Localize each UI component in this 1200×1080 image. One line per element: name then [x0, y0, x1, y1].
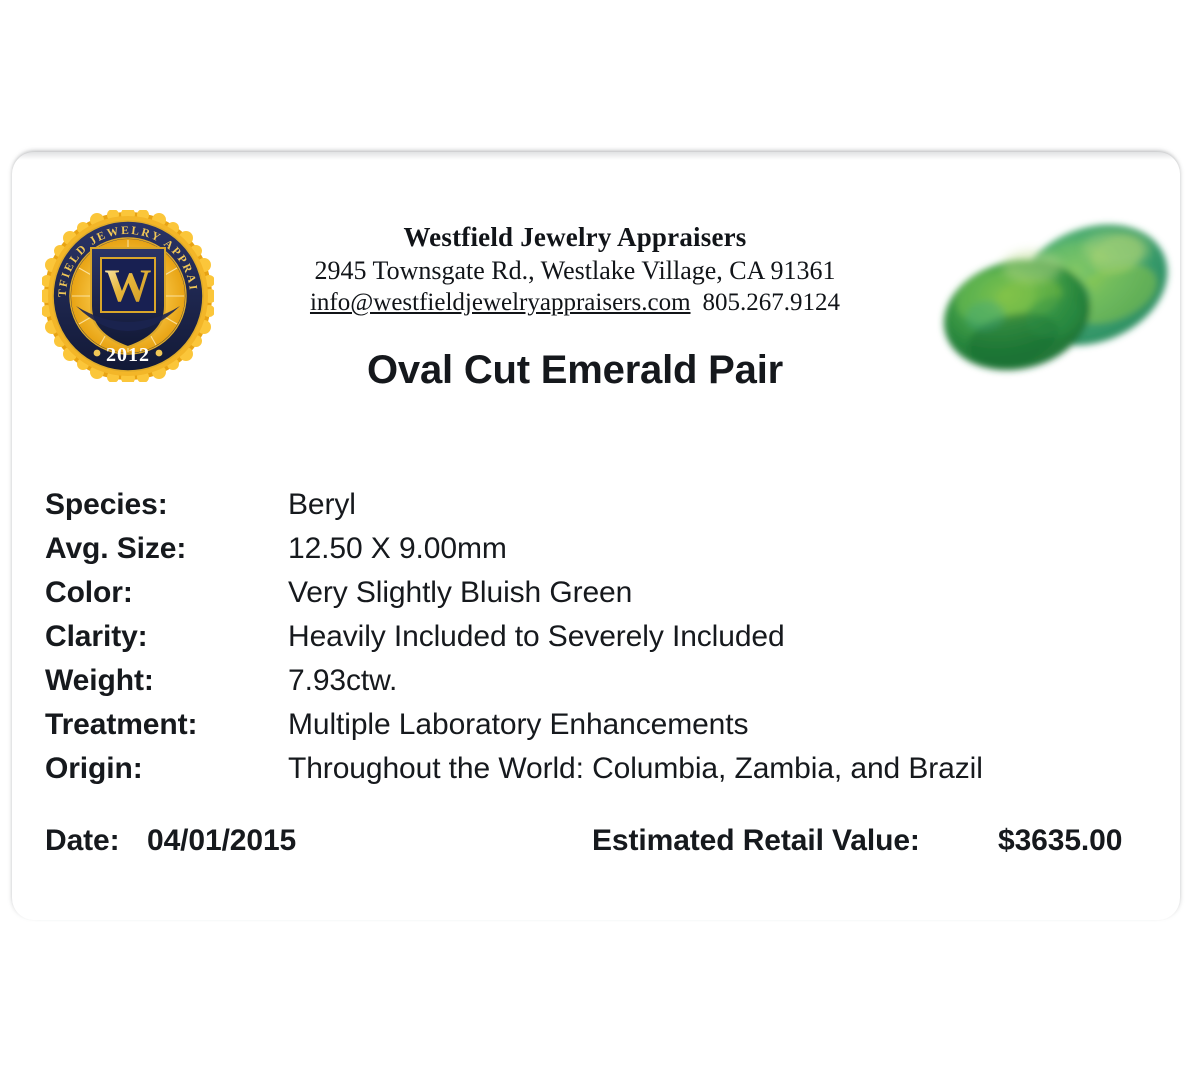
spec-value-avg-size: 12.50 X 9.00mm [288, 532, 507, 566]
retail-value-label: Estimated Retail Value: [592, 824, 920, 858]
spec-value-treatment: Multiple Laboratory Enhancements [288, 708, 748, 742]
date-label: Date: [45, 824, 120, 858]
company-seal: WESTFIELD JEWELRY APPRAISERS [42, 210, 214, 382]
item-title: Oval Cut Emerald Pair [230, 348, 920, 393]
spec-value-species: Beryl [288, 488, 356, 522]
date-value: 04/01/2015 [147, 824, 296, 858]
appraisal-card: WESTFIELD JEWELRY APPRAISERS [12, 152, 1180, 920]
spec-label-origin: Origin: [45, 752, 143, 786]
retail-value-amount: $3635.00 [998, 824, 1122, 858]
spec-label-avg-size: Avg. Size: [45, 532, 186, 566]
seal-monogram-w: W [105, 260, 152, 312]
spec-row-avg-size: Avg. Size: 12.50 X 9.00mm [45, 532, 1155, 576]
spec-label-treatment: Treatment: [45, 708, 197, 742]
spec-row-treatment: Treatment: Multiple Laboratory Enhanceme… [45, 708, 1155, 752]
gemstone-photo [912, 197, 1180, 392]
spec-row-weight: Weight: 7.93ctw. [45, 664, 1155, 708]
company-phone: 805.267.9124 [703, 289, 841, 316]
company-seal-icon: WESTFIELD JEWELRY APPRAISERS [42, 210, 214, 382]
letterhead: Westfield Jewelry Appraisers 2945 Townsg… [230, 222, 920, 319]
spec-value-origin: Throughout the World: Columbia, Zambia, … [288, 752, 983, 786]
spec-value-clarity: Heavily Included to Severely Included [288, 620, 785, 654]
seal-year-text: 2012 [106, 344, 150, 366]
spec-row-clarity: Clarity: Heavily Included to Severely In… [45, 620, 1155, 664]
company-address: 2945 Townsgate Rd., Westlake Village, CA… [230, 254, 920, 287]
spec-value-color: Very Slightly Bluish Green [288, 576, 632, 610]
spec-value-weight: 7.93ctw. [288, 664, 397, 698]
spec-label-color: Color: [45, 576, 133, 610]
spec-label-species: Species: [45, 488, 168, 522]
company-name: Westfield Jewelry Appraisers [230, 222, 920, 254]
card-footer: Date: 04/01/2015 Estimated Retail Value:… [45, 824, 1155, 868]
specification-table: Species: Beryl Avg. Size: 12.50 X 9.00mm… [45, 488, 1155, 796]
spec-row-origin: Origin: Throughout the World: Columbia, … [45, 752, 1155, 796]
spec-row-species: Species: Beryl [45, 488, 1155, 532]
contact-line: info@westfieldjewelryappraisers.com805.2… [230, 287, 920, 319]
spec-row-color: Color: Very Slightly Bluish Green [45, 576, 1155, 620]
screenshot-viewport: WESTFIELD JEWELRY APPRAISERS [0, 0, 1200, 1080]
company-email-link[interactable]: info@westfieldjewelryappraisers.com [310, 289, 691, 316]
spec-label-clarity: Clarity: [45, 620, 148, 654]
spec-label-weight: Weight: [45, 664, 154, 698]
